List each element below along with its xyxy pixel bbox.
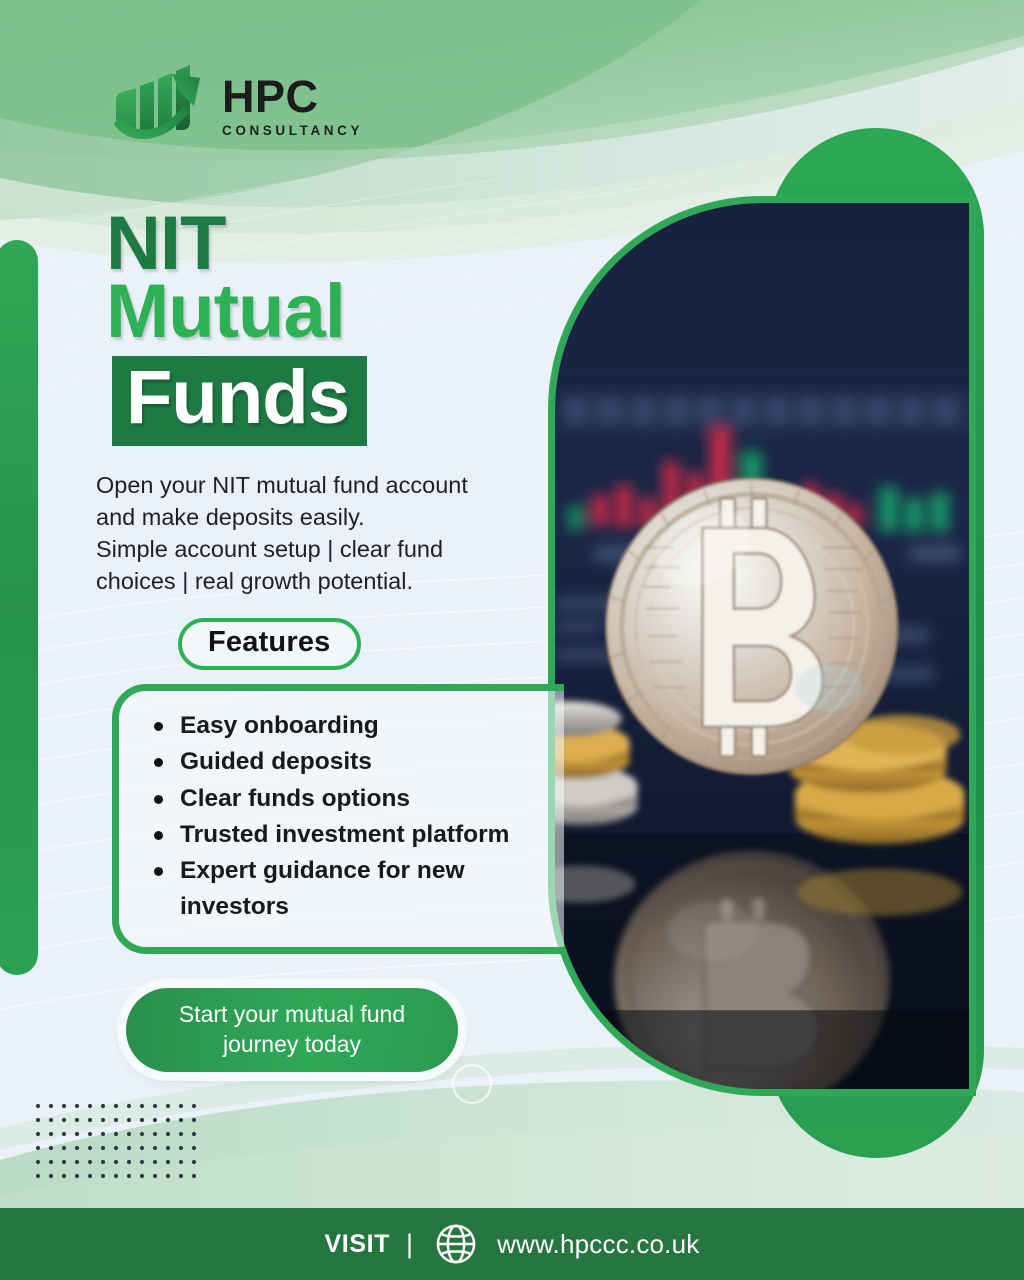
- hero-photo: [548, 196, 976, 1096]
- intro-line-1: Open your NIT mutual fund account: [96, 470, 556, 502]
- footer-url[interactable]: www.hpccc.co.uk: [497, 1229, 699, 1260]
- photo-right-border: [969, 196, 976, 1096]
- headline-highlight-box: Funds: [112, 356, 367, 446]
- intro-paragraph: Open your NIT mutual fund account and ma…: [96, 470, 556, 598]
- intro-line-2: and make deposits easily.: [96, 502, 556, 534]
- footer-divider: |: [406, 1229, 413, 1260]
- circle-outline-decoration: [452, 1064, 492, 1104]
- features-badge: Features: [178, 618, 361, 670]
- list-item: Easy onboarding: [150, 708, 580, 744]
- footer-visit-label: VISIT: [325, 1230, 391, 1259]
- globe-icon: [435, 1223, 477, 1265]
- left-accent-bar: [0, 240, 38, 975]
- footer-bar: VISIT | www.hpccc.co.uk: [0, 1208, 1024, 1280]
- brand-logo: HPC CONSULTANCY: [98, 58, 363, 150]
- logo-title: HPC: [222, 76, 363, 119]
- page-title: NIT Mutual Funds: [106, 207, 367, 446]
- features-list: Easy onboarding Guided deposits Clear fu…: [150, 708, 580, 926]
- list-item: Clear funds options: [150, 781, 580, 817]
- logo-tagline: CONSULTANCY: [222, 123, 363, 138]
- intro-line-4: choices | real growth potential.: [96, 566, 556, 598]
- headline-line-3: Funds: [126, 355, 349, 440]
- cta-button-label: Start your mutual fund journey today: [126, 1000, 458, 1060]
- poster-canvas: HPC CONSULTANCY NIT Mutual Funds Open yo…: [0, 0, 1024, 1280]
- intro-line-3: Simple account setup | clear fund: [96, 534, 556, 566]
- features-badge-label: Features: [208, 626, 331, 658]
- list-item: Guided deposits: [150, 744, 580, 780]
- list-item: Trusted investment platform: [150, 817, 580, 853]
- headline-line-2: Mutual: [106, 275, 367, 349]
- bar-chart-arrow-icon: [98, 58, 214, 150]
- cta-button[interactable]: Start your mutual fund journey today: [126, 988, 458, 1072]
- list-item: Expert guidance for new investors: [150, 853, 580, 926]
- dot-grid-decoration: [35, 1103, 205, 1195]
